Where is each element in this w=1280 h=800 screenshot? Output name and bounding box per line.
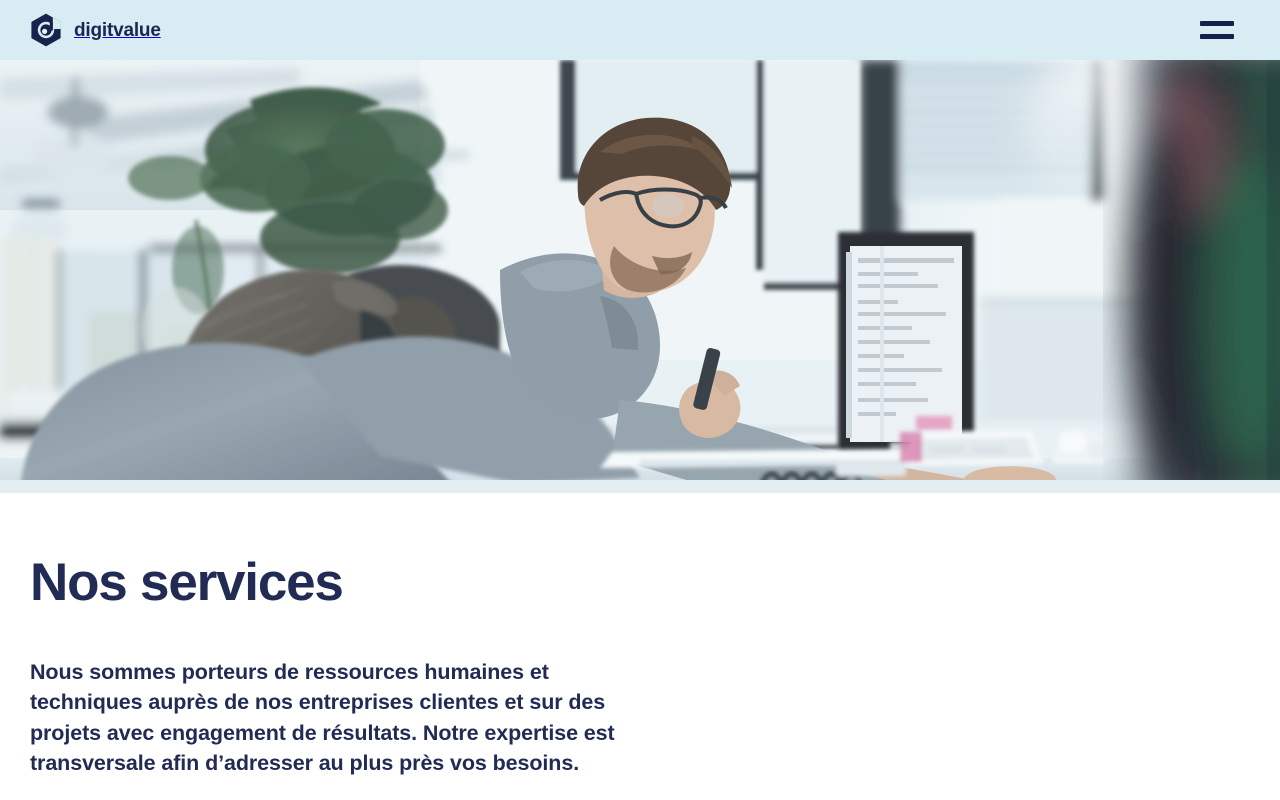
page-title: Nos services — [30, 555, 1250, 611]
brand-logo-link[interactable]: digitvalue — [30, 13, 161, 47]
brand-name: digitvalue — [74, 21, 161, 40]
site-header: digitvalue — [0, 0, 1280, 60]
services-section: Nos services Nous sommes porteurs de res… — [0, 493, 1280, 779]
hamburger-menu-icon[interactable] — [1200, 18, 1234, 42]
hero-banner — [0, 60, 1280, 493]
hero-office-photo — [0, 60, 1280, 493]
menu-bar-bottom — [1200, 34, 1234, 39]
services-intro-paragraph: Nous sommes porteurs de ressources humai… — [30, 657, 630, 779]
digitvalue-shield-logo-icon — [30, 13, 62, 47]
menu-bar-top — [1200, 21, 1234, 26]
